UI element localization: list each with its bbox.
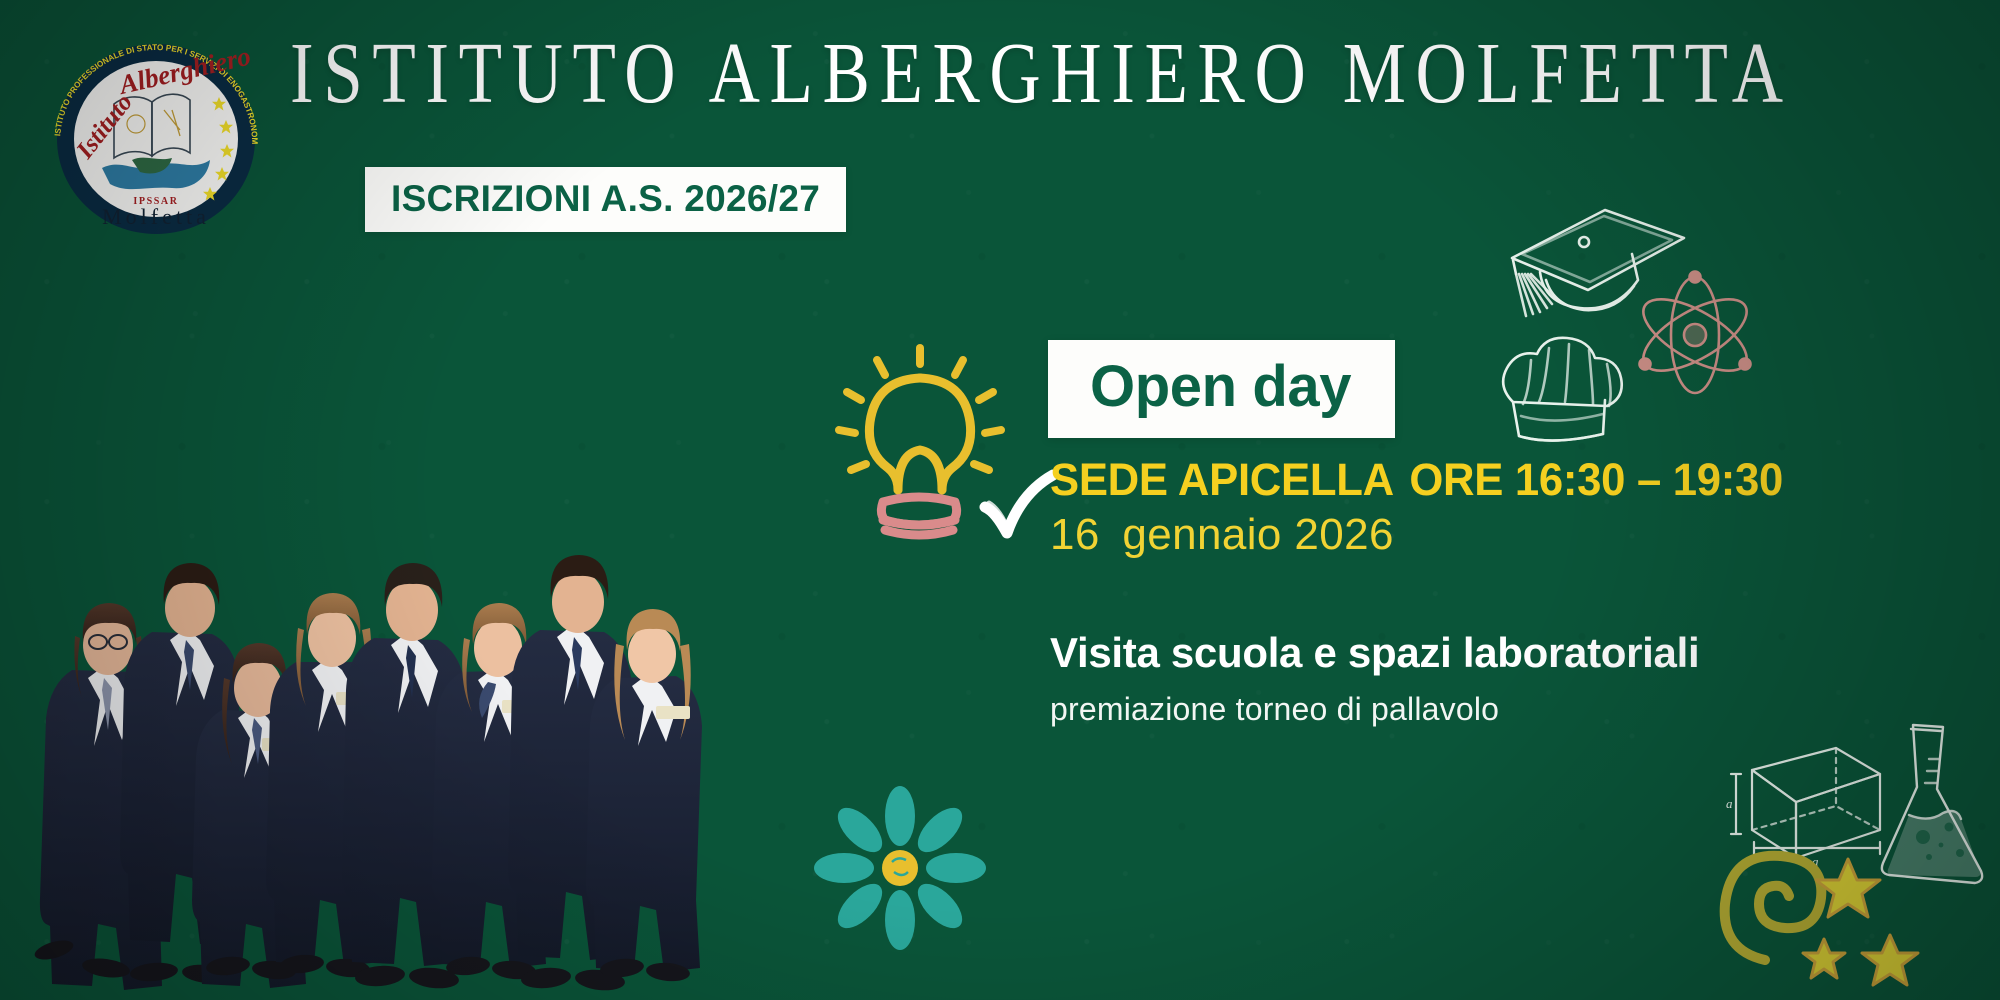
cube-dimension-label-width: a (1812, 854, 1819, 869)
flask-icon (1865, 715, 2000, 895)
date-day: 16 (1050, 510, 1100, 559)
flower-center (882, 850, 918, 886)
info-headline: Visita scuola e spazi laboratoriali (1050, 628, 1950, 678)
venue-and-hours: SEDE APICELLAORE 16:30 – 19:30 (1050, 455, 1884, 505)
openday-badge: Open day (1048, 340, 1395, 438)
promo-banner: ISTITUTO PROFESSIONALE DI STATO PER I SE… (0, 0, 2000, 1000)
banner-title: ISTITUTO ALBERGHIERO MOLFETTA (290, 30, 1845, 117)
event-info: Visita scuola e spazi laboratoriali prem… (1050, 628, 1950, 729)
hours-label: ORE (1409, 454, 1503, 505)
spiral-icon (1715, 830, 1845, 955)
flower-icon (800, 780, 1000, 955)
atom-icon (1625, 265, 1765, 405)
school-logo: ISTITUTO PROFESSIONALE DI STATO PER I SE… (36, 32, 276, 247)
lightbulb-icon (805, 330, 1035, 550)
iscrizioni-label: ISCRIZIONI A.S. 2026/27 (391, 180, 820, 217)
cube-icon: a a (1710, 730, 1900, 880)
chef-hat-icon (1495, 330, 1640, 450)
hours-value: 16:30 – 19:30 (1515, 454, 1783, 505)
event-date: 16 gennaio 2026 (1050, 511, 1910, 559)
date-month-year: gennaio 2026 (1122, 510, 1394, 559)
stars-icon (1800, 855, 1980, 995)
iscrizioni-badge: ISCRIZIONI A.S. 2026/27 (365, 167, 846, 232)
venue-label: SEDE APICELLA (1050, 454, 1394, 505)
event-details: SEDE APICELLAORE 16:30 – 19:30 16 gennai… (1050, 455, 1910, 560)
students-group-photo (10, 320, 820, 1000)
flower-petals (814, 786, 986, 950)
cube-dimension-label-height: a (1726, 796, 1733, 811)
logo-city: Molfetta (102, 204, 210, 229)
openday-label: Open day (1090, 358, 1351, 416)
info-subline: premiazione torneo di pallavolo (1050, 690, 1950, 728)
graduation-cap-icon (1500, 200, 1695, 350)
